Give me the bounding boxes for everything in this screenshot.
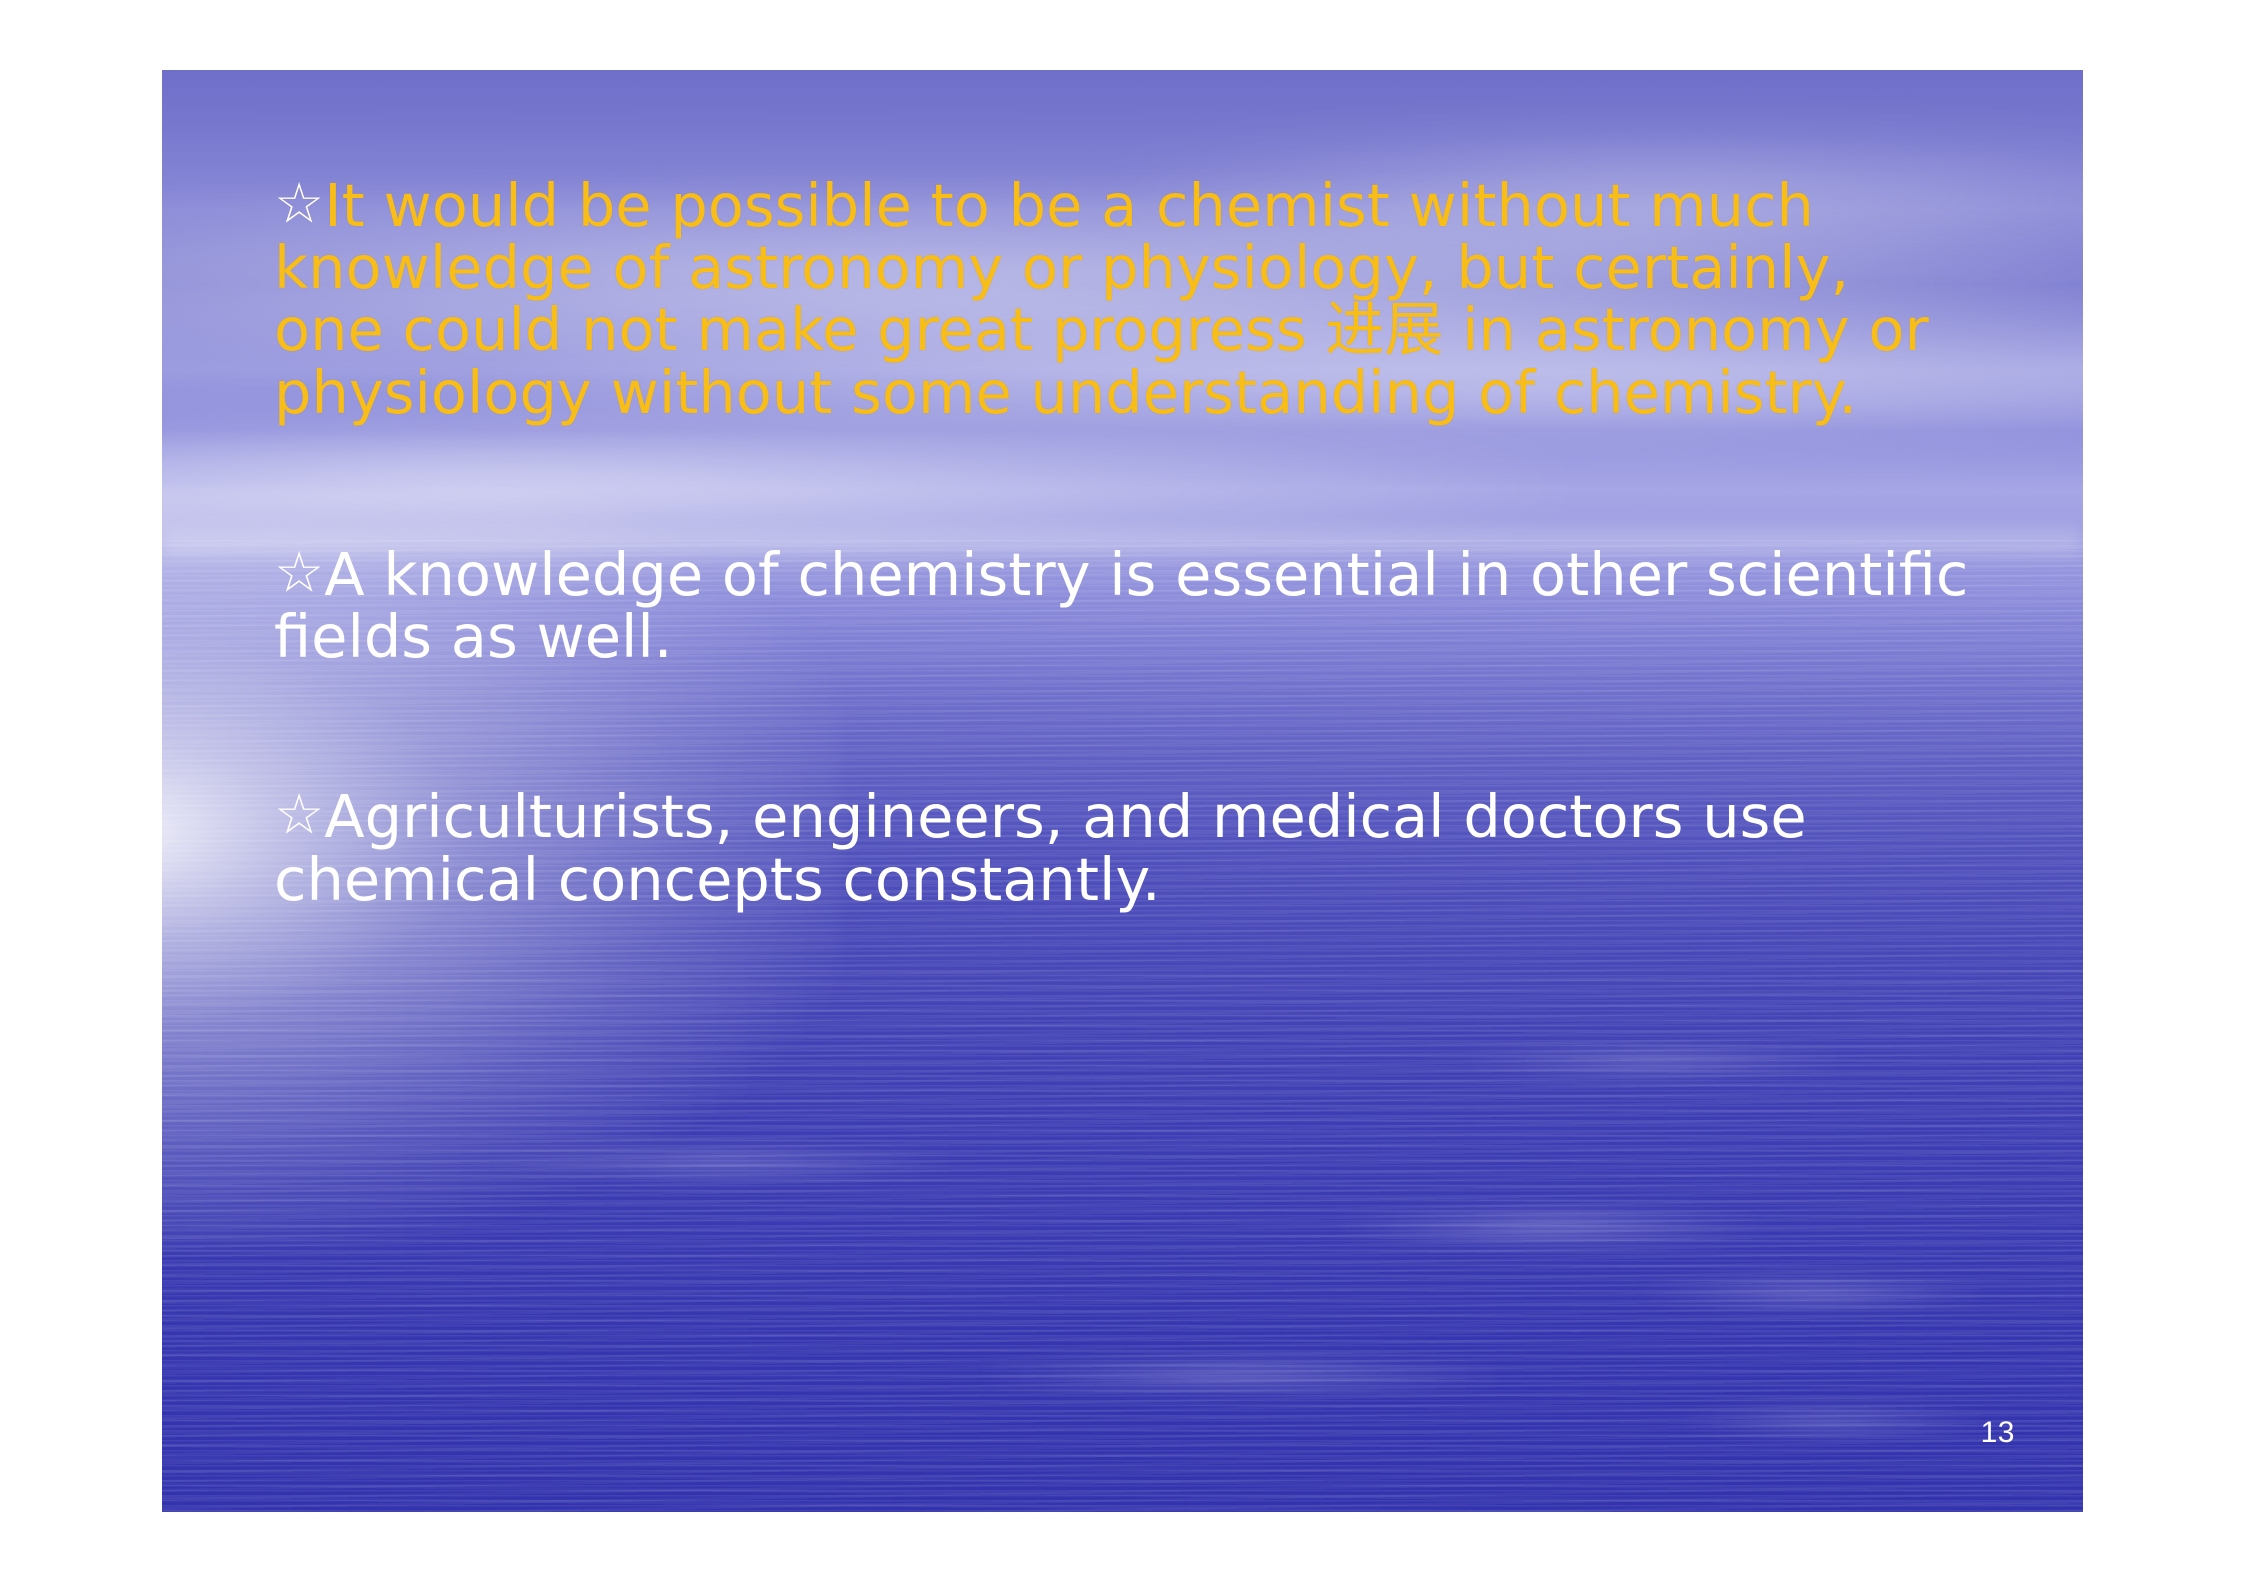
slide-page: ☆It would be possible to be a chemist wi… xyxy=(0,0,2246,1586)
water-glint xyxy=(982,1360,1502,1390)
bullet-3-text: Agriculturists, engineers, and medical d… xyxy=(274,782,1807,913)
star-outline-icon: ☆ xyxy=(274,172,324,237)
star-outline-icon: ☆ xyxy=(274,541,324,606)
slide-body: ☆It would be possible to be a chemist wi… xyxy=(274,175,1974,911)
page-number: 13 xyxy=(1981,1416,2015,1450)
presentation-slide: ☆It would be possible to be a chemist wi… xyxy=(162,70,2083,1512)
star-outline-icon: ☆ xyxy=(274,783,324,848)
bullet-2-text: A knowledge of chemistry is essential in… xyxy=(274,540,1968,671)
bullet-item-3: ☆Agriculturists, engineers, and medical … xyxy=(274,786,1974,910)
bullet-2-paragraph: ☆A knowledge of chemistry is essential i… xyxy=(274,544,1974,668)
bullet-item-2: ☆A knowledge of chemistry is essential i… xyxy=(274,544,1974,668)
bullet-spacer xyxy=(274,424,1974,544)
water-glint xyxy=(1642,1280,1982,1306)
bullet-1-text: It would be possible to be a chemist wit… xyxy=(274,171,1929,427)
bullet-item-1: ☆It would be possible to be a chemist wi… xyxy=(274,175,1974,424)
water-glint xyxy=(1342,1210,1762,1244)
water-glint xyxy=(1462,1050,1842,1072)
bullet-3-paragraph: ☆Agriculturists, engineers, and medical … xyxy=(274,786,1974,910)
water-glint xyxy=(1682,1410,1982,1432)
bullet-spacer xyxy=(274,668,1974,786)
bullet-1-paragraph: ☆It would be possible to be a chemist wi… xyxy=(274,175,1974,424)
